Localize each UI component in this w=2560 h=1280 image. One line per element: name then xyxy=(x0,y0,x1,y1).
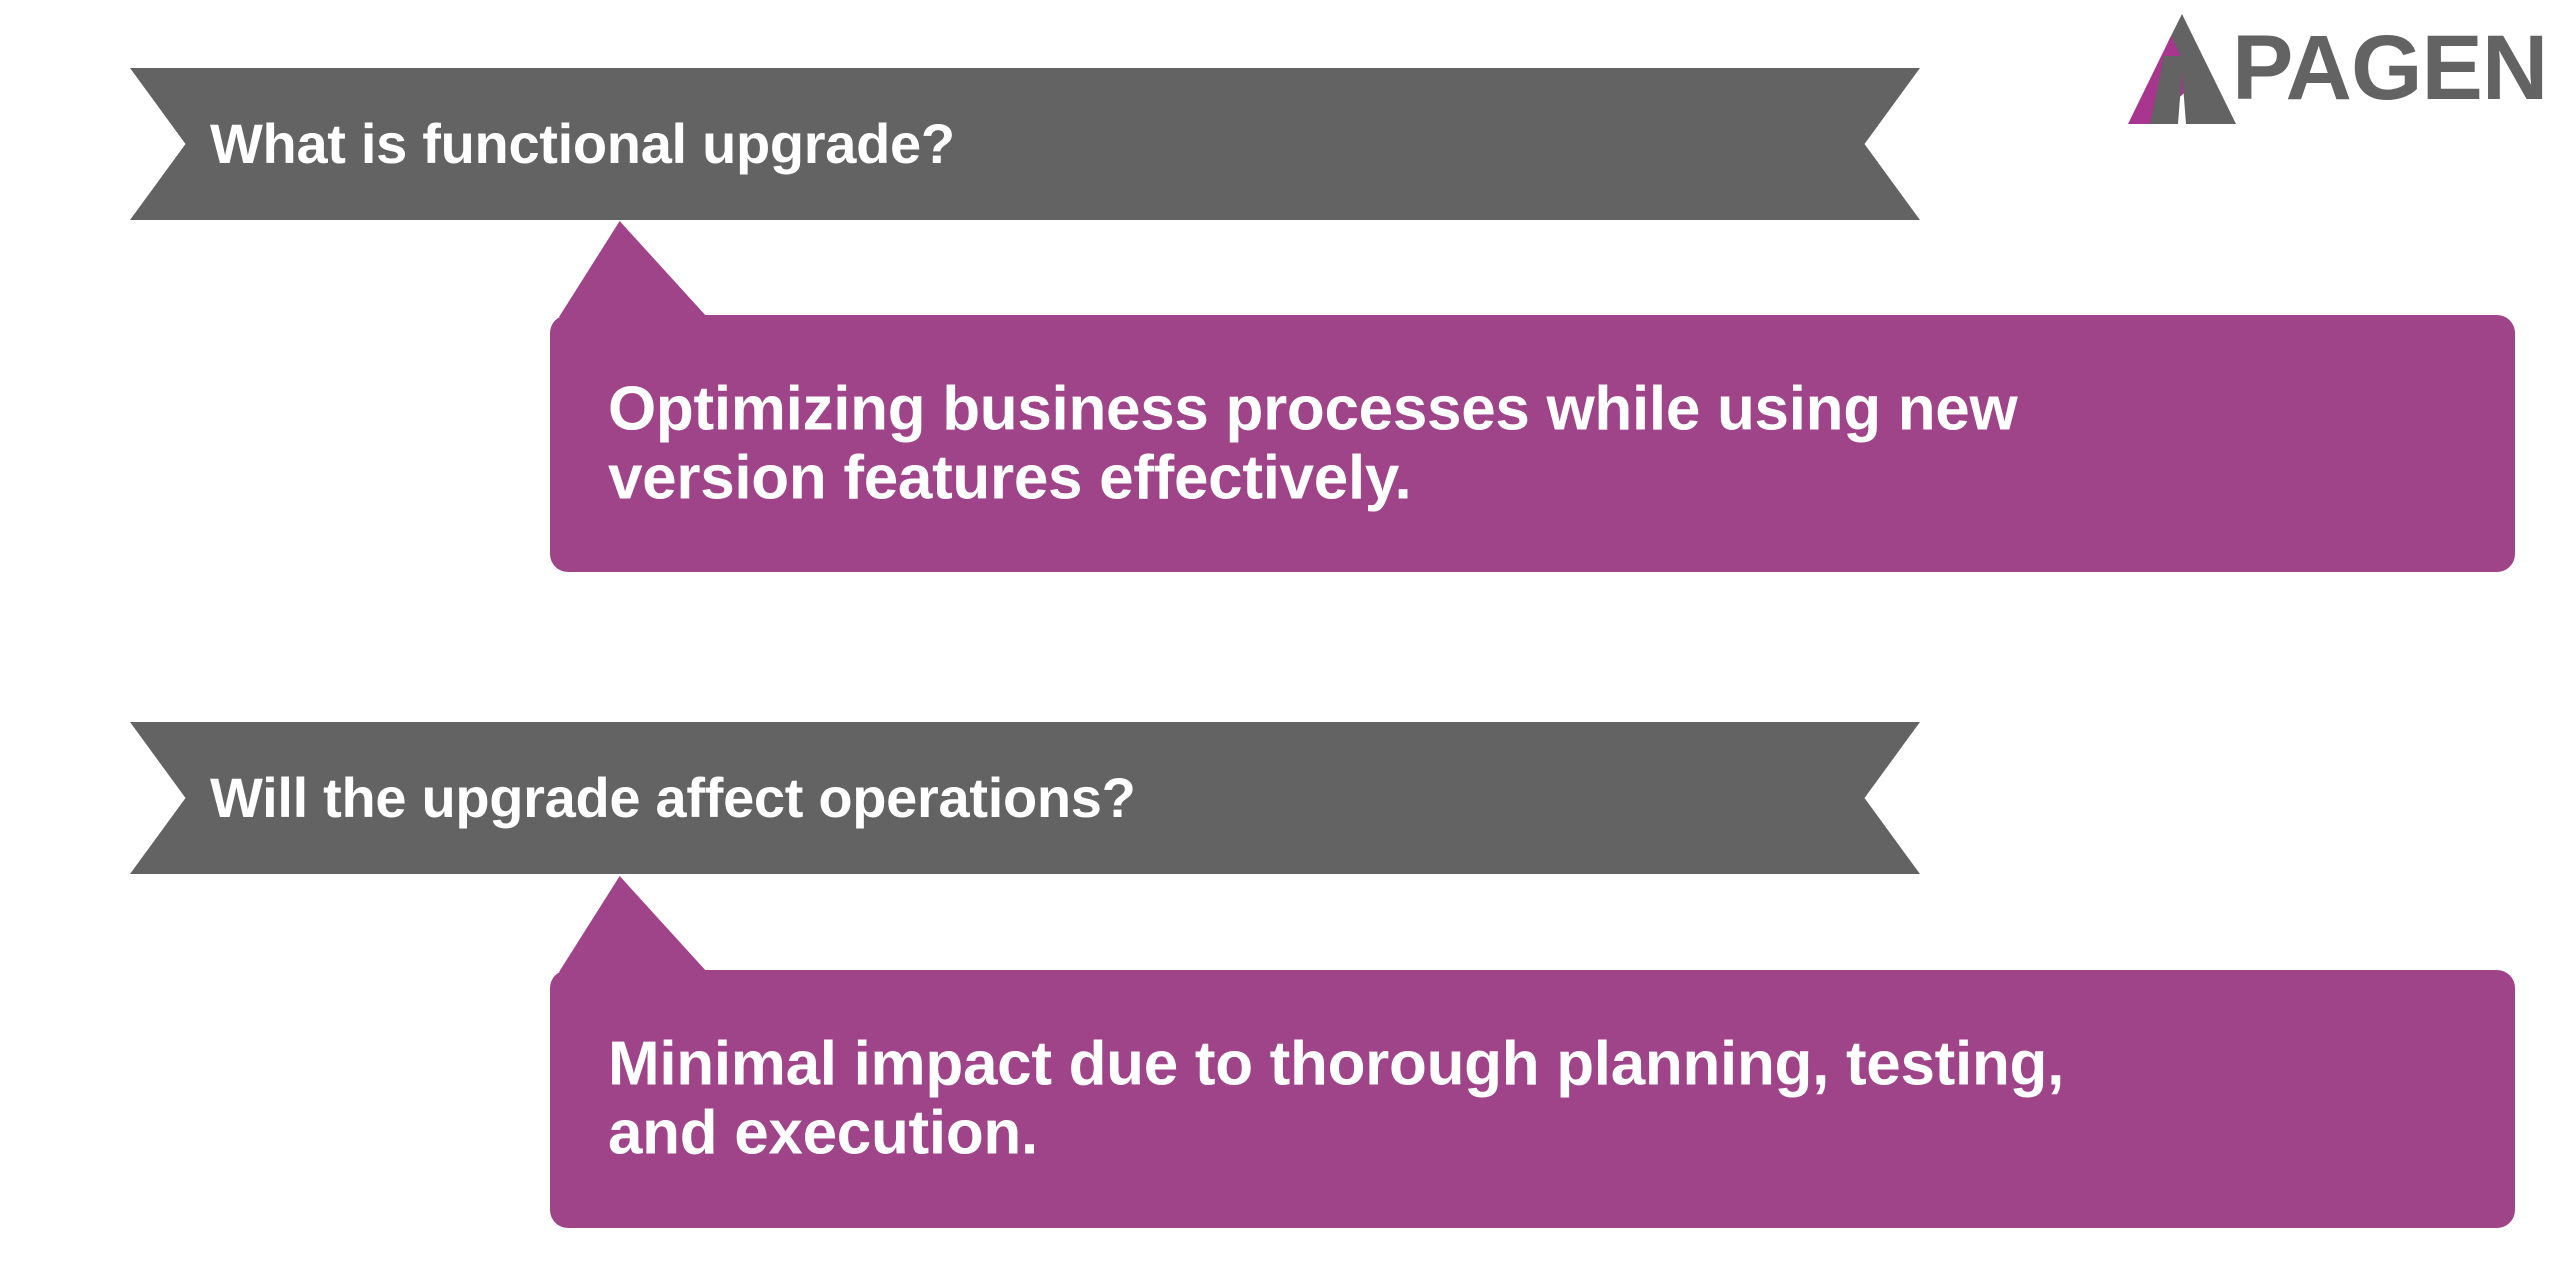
faq-question-banner-2: Will the upgrade affect operations? xyxy=(130,722,1920,874)
faq-answer-line: version features effectively. xyxy=(608,444,2455,513)
brand-wordmark: PAGEN xyxy=(2232,22,2547,114)
faq-question-text-2: Will the upgrade affect operations? xyxy=(210,769,1136,828)
faq-answer-text-1: Optimizing business processes while usin… xyxy=(608,374,2455,513)
faq-answer-line: Optimizing business processes while usin… xyxy=(608,374,2455,443)
apagen-a-logo-icon xyxy=(2128,12,2236,124)
faq-answer-callout-1: Optimizing business processes while usin… xyxy=(550,315,2515,572)
faq-answer-callout-2: Minimal impact due to thorough planning,… xyxy=(550,970,2515,1228)
faq-answer-line: and execution. xyxy=(608,1099,2455,1168)
faq-question-banner-1: What is functional upgrade? xyxy=(130,68,1920,220)
slide-canvas: PAGEN What is functional upgrade? Optimi… xyxy=(0,0,2560,1280)
faq-answer-line: Minimal impact due to thorough planning,… xyxy=(608,1030,2455,1099)
faq-question-text-1: What is functional upgrade? xyxy=(210,115,955,174)
callout-tail-icon-2 xyxy=(559,876,707,972)
callout-tail-icon-1 xyxy=(559,221,707,317)
faq-answer-text-2: Minimal impact due to thorough planning,… xyxy=(608,1030,2455,1169)
brand-logo: PAGEN xyxy=(2128,8,2548,128)
